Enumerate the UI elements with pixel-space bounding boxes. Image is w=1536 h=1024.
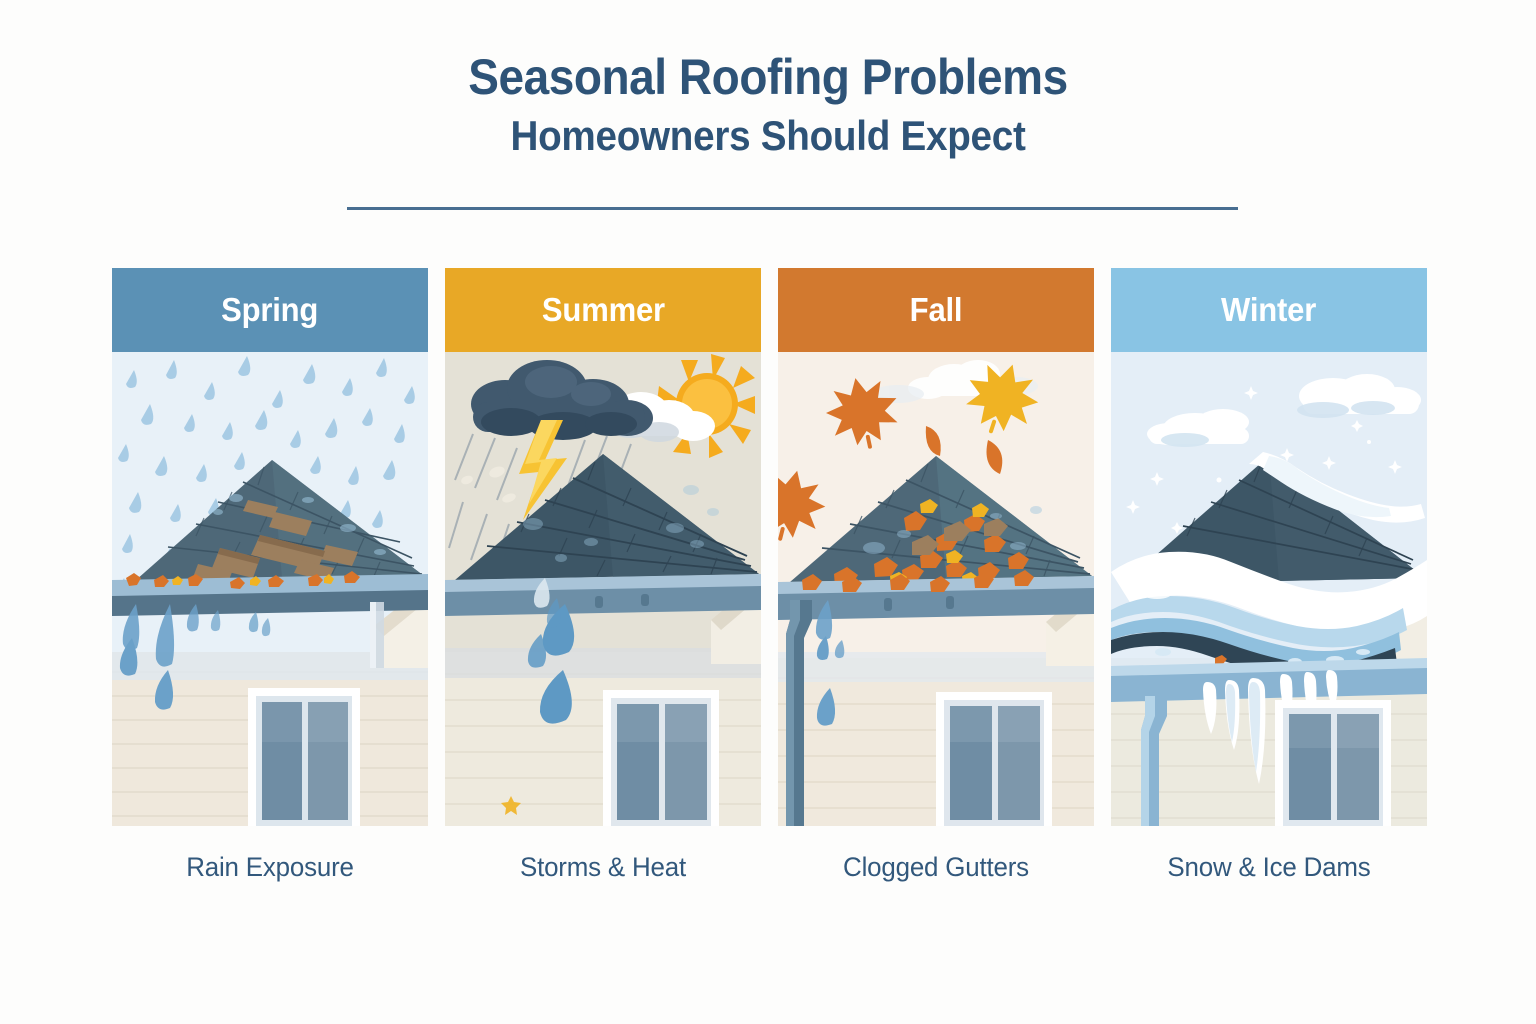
season-panel-summer[interactable]: Summer xyxy=(445,268,761,826)
downspout xyxy=(370,602,384,668)
caption-winter: Snow & Ice Dams xyxy=(1117,852,1420,902)
window xyxy=(1275,700,1391,826)
gutter xyxy=(445,574,761,616)
caption-spring: Rain Exposure xyxy=(118,852,421,902)
window xyxy=(248,688,360,826)
season-panel-spring[interactable]: Spring xyxy=(112,268,428,826)
clogged-gutters-scene xyxy=(778,352,1094,826)
season-panel-winter[interactable]: Winter xyxy=(1111,268,1427,826)
storms-and-heat-scene xyxy=(445,352,761,826)
page-title-line-1: Seasonal Roofing Problems xyxy=(61,46,1474,108)
snow-and-ice-dams-scene xyxy=(1111,352,1427,826)
title-divider xyxy=(347,207,1238,210)
title-block: Seasonal Roofing Problems Homeowners Sho… xyxy=(0,0,1536,164)
caption-fall: Clogged Gutters xyxy=(784,852,1087,902)
caption-summer: Storms & Heat xyxy=(451,852,754,902)
panel-header-spring: Spring xyxy=(112,268,428,352)
rain-exposure-scene xyxy=(112,352,428,826)
panel-header-fall: Fall xyxy=(778,268,1094,352)
season-label-summer: Summer xyxy=(541,291,664,329)
window xyxy=(603,690,719,826)
season-label-fall: Fall xyxy=(910,291,963,329)
caption-row: Rain Exposure Storms & Heat Clogged Gutt… xyxy=(112,852,1428,902)
season-panel-fall[interactable]: Fall xyxy=(778,268,1094,826)
window xyxy=(936,692,1052,826)
panel-header-summer: Summer xyxy=(445,268,761,352)
season-label-spring: Spring xyxy=(221,291,318,329)
page-title-line-2: Homeowners Should Expect xyxy=(61,108,1474,164)
panel-header-winter: Winter xyxy=(1111,268,1427,352)
season-label-winter: Winter xyxy=(1221,291,1316,329)
season-panels-row: Spring xyxy=(112,268,1428,826)
